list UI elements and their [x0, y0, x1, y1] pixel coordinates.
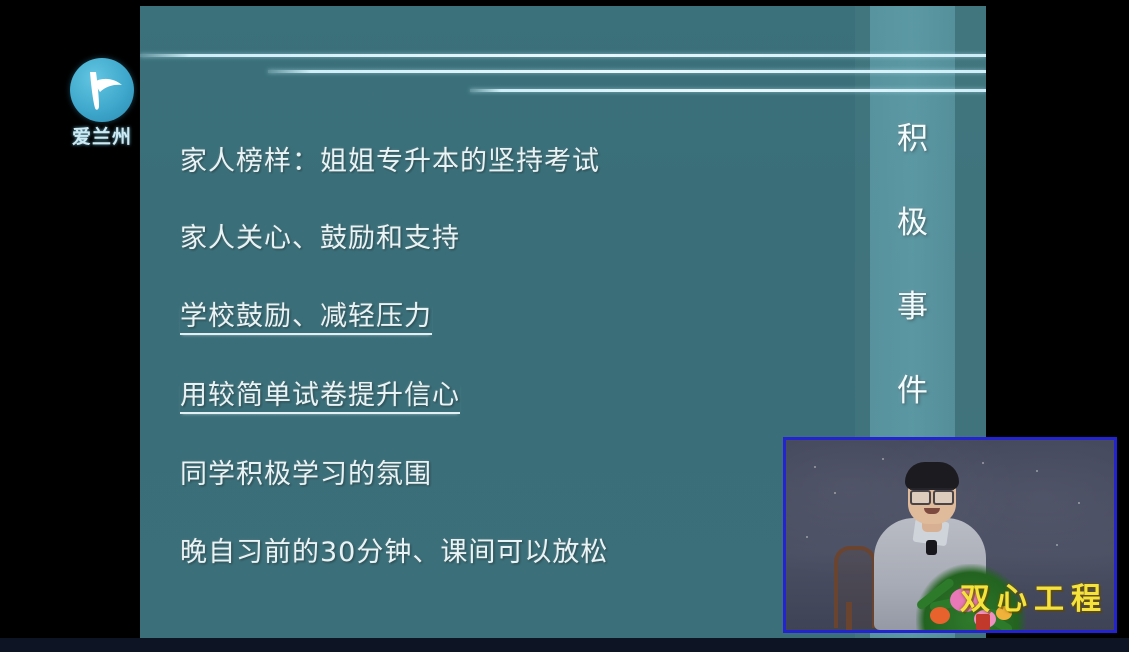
list-item: 家人关心、鼓励和支持	[180, 225, 820, 255]
list-item: 用较简单试卷提升信心	[180, 382, 820, 414]
bullet-text: 学校鼓励、减轻压力	[180, 303, 432, 335]
letterbox-bottom	[0, 638, 1129, 652]
bullet-list: 家人榜样：姐姐专升本的坚持考试 家人关心、鼓励和支持 学校鼓励、减轻压力 用较简…	[180, 148, 820, 569]
list-item: 家人榜样：姐姐专升本的坚持考试	[180, 148, 820, 178]
lapel-mic-icon	[926, 540, 937, 555]
letterbox-top	[0, 0, 1129, 6]
broadcaster-logo: 爱兰州	[57, 58, 147, 154]
bullet-text: 家人榜样：姐姐专升本的坚持考试	[180, 148, 600, 178]
program-title-overlay: 双心工程	[960, 574, 1108, 618]
screencast-frame: 家人榜样：姐姐专升本的坚持考试 家人关心、鼓励和支持 学校鼓励、减轻压力 用较简…	[0, 0, 1129, 652]
bullet-text: 晚自习前的30分钟、课间可以放松	[180, 539, 608, 569]
chair-leg-shape	[846, 602, 852, 630]
bullet-text: 同学积极学习的氛围	[180, 461, 432, 491]
vertical-title-char: 件	[870, 376, 955, 407]
list-item: 晚自习前的30分钟、课间可以放松	[180, 539, 820, 569]
vertical-title-char: 积	[870, 124, 955, 155]
vertical-title-char: 极	[870, 208, 955, 239]
wave-bird-logo-icon	[70, 58, 134, 122]
glasses-icon	[910, 488, 954, 501]
chair-shape	[834, 546, 876, 628]
vertical-section-title: 积 极 事 件	[870, 124, 955, 407]
decor-rule-3	[470, 89, 986, 92]
decor-rule-2	[268, 70, 986, 73]
decor-rule-1	[140, 54, 986, 57]
list-item: 同学积极学习的氛围	[180, 461, 820, 491]
list-item: 学校鼓励、减轻压力	[180, 303, 820, 335]
broadcaster-name: 爱兰州	[57, 122, 147, 149]
speaker-video-inset[interactable]: 双心工程	[783, 437, 1117, 633]
bullet-text: 用较简单试卷提升信心	[180, 382, 460, 414]
bullet-text: 家人关心、鼓励和支持	[180, 225, 460, 255]
presenter-hair	[905, 462, 959, 490]
vertical-title-char: 事	[870, 292, 955, 323]
